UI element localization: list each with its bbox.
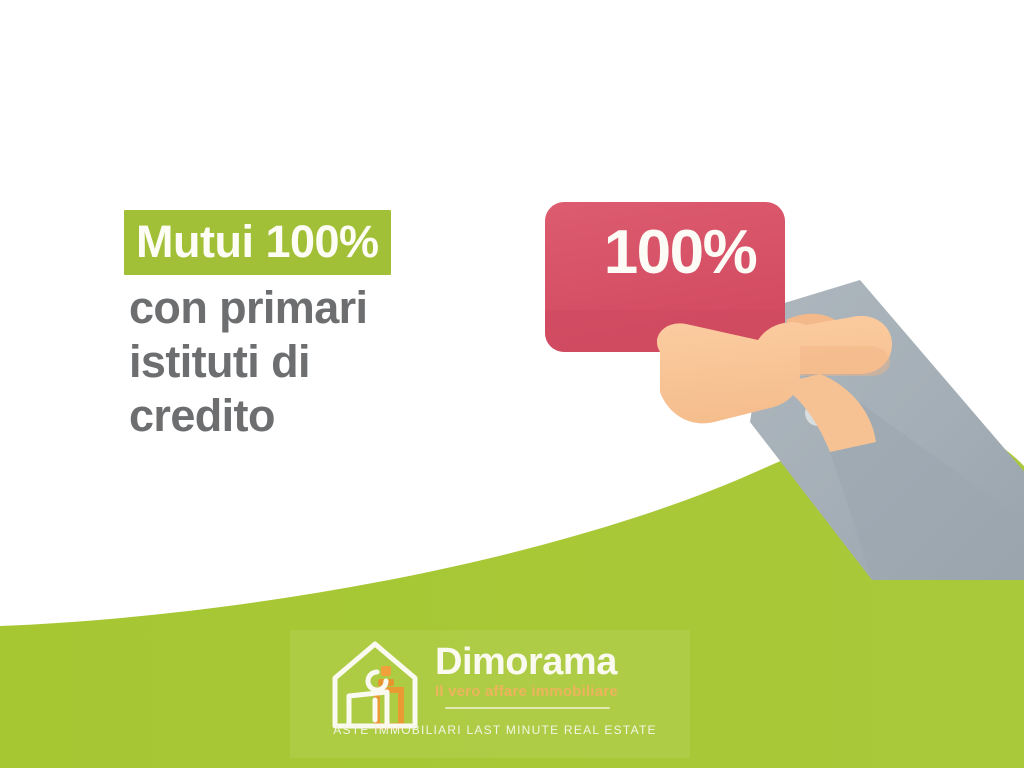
- headline-block: Mutui 100% con primari istituti di credi…: [124, 210, 544, 443]
- headline-line-3: credito: [124, 389, 544, 443]
- headline-line-2: istituti di: [124, 335, 544, 389]
- headline-highlight: Mutui 100%: [124, 210, 391, 275]
- house-logo-icon: [325, 634, 437, 734]
- logo-tagline: Il vero affare immobiliare: [435, 683, 665, 701]
- illustration-svg: [500, 160, 1024, 580]
- brand-logo[interactable]: Dimorama Il vero affare immobiliare ASTE…: [325, 632, 665, 752]
- hand-holding-card-illustration: 100%: [500, 160, 1024, 580]
- logo-footline: ASTE IMMOBILIARI LAST MINUTE REAL ESTATE: [325, 722, 665, 738]
- logo-name: Dimorama: [435, 642, 665, 682]
- headline-line-1: con primari: [124, 281, 544, 335]
- logo-divider: [445, 707, 610, 709]
- promo-banner: Mutui 100% con primari istituti di credi…: [0, 0, 1024, 768]
- logo-wordmark: Dimorama Il vero affare immobiliare: [435, 642, 665, 701]
